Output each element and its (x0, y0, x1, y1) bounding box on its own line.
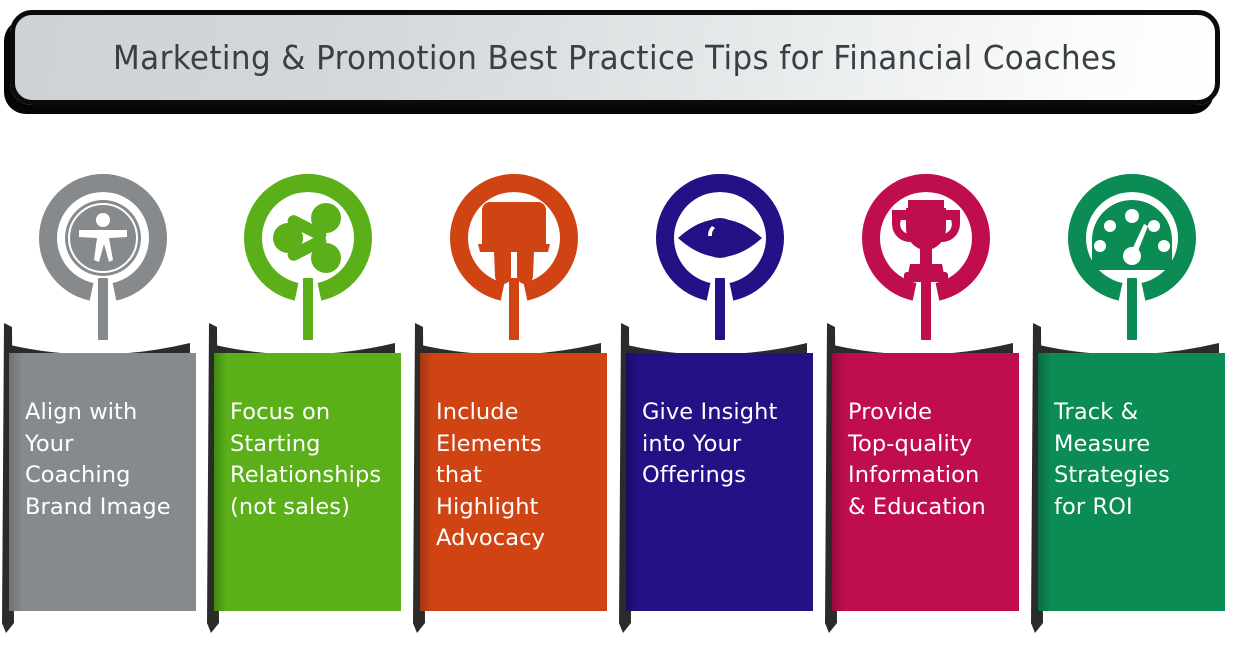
tip-card-6[interactable]: Track & Measure Strategies for ROI (1038, 353, 1225, 611)
tip-column-6[interactable]: Track & Measure Strategies for ROI (1029, 168, 1234, 652)
tip-label-6: Track & Measure Strategies for ROI (1054, 397, 1225, 523)
accessibility-person-icon (33, 168, 173, 340)
icon-container-4 (617, 168, 822, 340)
tip-card-3[interactable]: Include Elements that Highlight Advocacy (420, 353, 607, 611)
tip-card-2[interactable]: Focus on Starting Relationships (not sal… (214, 353, 401, 611)
tips-columns: Align with Your Coaching Brand Image (0, 168, 1234, 652)
icon-container-1 (0, 168, 205, 340)
tip-card-1[interactable]: Align with Your Coaching Brand Image (9, 353, 196, 611)
tip-label-1: Align with Your Coaching Brand Image (25, 397, 196, 523)
icon-container-3 (411, 168, 616, 340)
title-banner: Marketing & Promotion Best Practice Tips… (10, 10, 1220, 105)
icon-container-6 (1029, 168, 1234, 340)
tip-column-3[interactable]: Include Elements that Highlight Advocacy (411, 168, 616, 652)
speedometer-gauge-icon (1062, 168, 1202, 340)
icon-container-5 (823, 168, 1028, 340)
tip-label-3: Include Elements that Highlight Advocacy (436, 397, 607, 555)
icon-container-2 (205, 168, 410, 340)
tip-label-4: Give Insight into Your Offerings (642, 397, 813, 492)
trophy-award-icon (856, 168, 996, 340)
page-title: Marketing & Promotion Best Practice Tips… (113, 38, 1117, 77)
tip-card-4[interactable]: Give Insight into Your Offerings (626, 353, 813, 611)
tip-column-5[interactable]: Provide Top-quality Information & Educat… (823, 168, 1028, 652)
eye-visibility-icon (650, 168, 790, 340)
share-network-icon (238, 168, 378, 340)
tip-card-5[interactable]: Provide Top-quality Information & Educat… (832, 353, 1019, 611)
audience-presentation-icon (444, 168, 584, 340)
tip-label-5: Provide Top-quality Information & Educat… (848, 397, 1019, 523)
tip-label-2: Focus on Starting Relationships (not sal… (230, 397, 401, 523)
infographic-canvas: Marketing & Promotion Best Practice Tips… (0, 0, 1234, 652)
tip-column-2[interactable]: Focus on Starting Relationships (not sal… (205, 168, 410, 652)
tip-column-4[interactable]: Give Insight into Your Offerings (617, 168, 822, 652)
tip-column-1[interactable]: Align with Your Coaching Brand Image (0, 168, 205, 652)
